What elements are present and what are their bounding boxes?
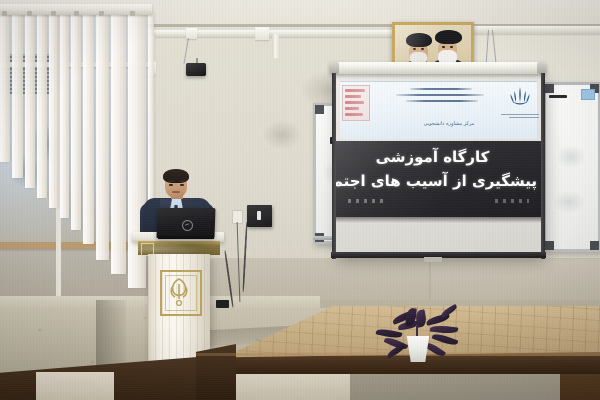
photo-scene: مرکز مشاوره دانشجویی کارگاه آموزشی پیشگی… xyxy=(0,0,600,400)
table-panel xyxy=(36,372,114,400)
ceiling-speaker xyxy=(186,63,206,76)
slide-title-line-1: کارگاه آموزشی xyxy=(334,147,531,167)
slide-title-line-2: پیشگیری از آسیب های اجتماعی xyxy=(334,171,537,191)
podium-band-emblem-icon xyxy=(141,243,154,256)
presenter-eye xyxy=(169,184,173,186)
whiteboard-right xyxy=(543,82,600,252)
whiteboard-corner xyxy=(545,84,554,93)
blind-slat-clip xyxy=(99,11,104,16)
blind-slat[interactable] xyxy=(83,12,94,244)
whiteboard-corner xyxy=(315,105,324,114)
conduit-drop xyxy=(272,34,279,58)
dell-logo-icon xyxy=(182,220,193,231)
iran-national-emblem-icon xyxy=(507,85,533,111)
slide-header-rule xyxy=(340,81,537,82)
blind-slat[interactable] xyxy=(37,12,47,198)
blind-slat[interactable] xyxy=(12,12,23,178)
blind-slat-clip xyxy=(51,11,56,16)
blind-slat[interactable] xyxy=(60,12,69,218)
screen-pull-tab[interactable] xyxy=(424,257,442,262)
blind-slat-clip xyxy=(130,11,135,16)
blind-slat[interactable] xyxy=(96,12,109,260)
laptop-hinge xyxy=(158,236,214,239)
institution-logo-icon xyxy=(342,85,370,121)
whiteboard-corner xyxy=(545,241,554,250)
slide-band-fade xyxy=(334,213,543,223)
blind-slat[interactable] xyxy=(111,12,126,274)
whiteboard-label xyxy=(581,89,595,100)
whiteboard-corner xyxy=(590,241,599,250)
whiteboard-smudge xyxy=(556,145,586,169)
slide-decor-dots xyxy=(495,199,529,203)
projection-screen-surface[interactable]: مرکز مشاوره دانشجویی کارگاه آموزشی پیشگی… xyxy=(334,73,543,256)
blind-slat-clip xyxy=(74,11,79,16)
blind-slat-clip xyxy=(27,11,32,16)
control-panel-indicator-icon xyxy=(257,211,261,220)
whiteboard-marker[interactable] xyxy=(549,95,567,98)
table-left-end xyxy=(196,344,236,400)
blind-slat[interactable] xyxy=(49,12,58,208)
slide-subtitle: مرکز مشاوره دانشجویی xyxy=(412,121,486,128)
screen-side-edge xyxy=(541,73,545,259)
blind-slat[interactable] xyxy=(25,12,35,188)
blind-slat[interactable] xyxy=(0,12,10,162)
presenter-eyebrow xyxy=(179,180,186,182)
blind-slat-clip xyxy=(2,11,7,16)
cable-plug xyxy=(216,300,229,308)
conduit-junction-box xyxy=(255,27,269,40)
slide-calligraphy xyxy=(396,84,488,118)
emblem-subtext xyxy=(499,112,539,122)
whiteboard-smudge xyxy=(552,191,586,213)
projected-slide: مرکز مشاوره دانشجویی کارگاه آموزشی پیشگی… xyxy=(334,73,543,256)
screen-side-edge xyxy=(332,73,336,259)
slide-decor-dots xyxy=(348,199,388,203)
presenter-eyebrow xyxy=(168,180,175,182)
screen-roller-housing[interactable] xyxy=(330,62,546,74)
presenter-mouth xyxy=(172,191,180,193)
presenter-eye xyxy=(180,184,184,186)
blind-slat[interactable] xyxy=(71,12,81,230)
podium-emblem-icon xyxy=(160,270,202,316)
